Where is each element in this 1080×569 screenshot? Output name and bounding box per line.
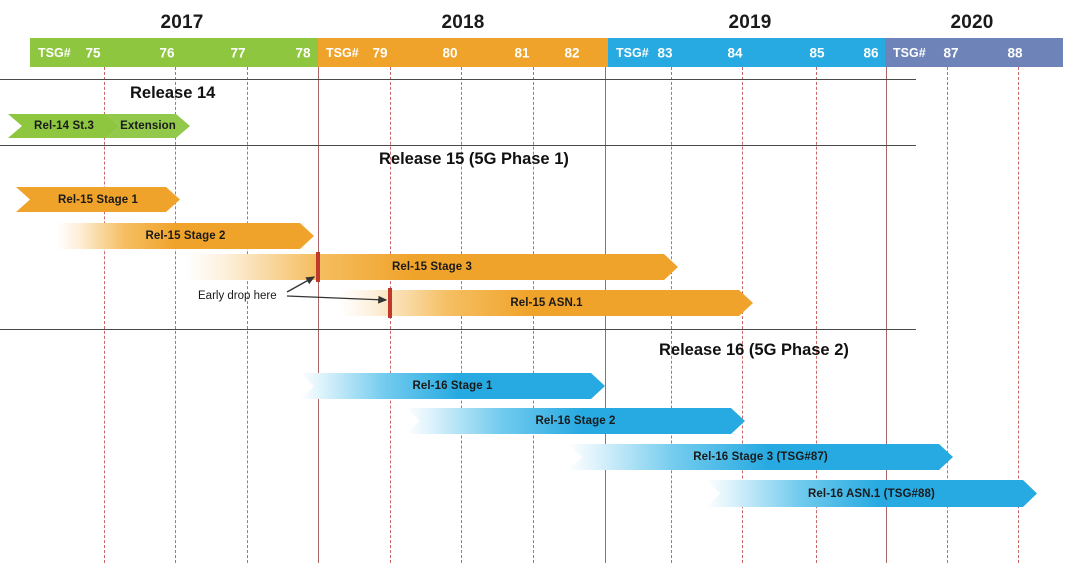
tsg-meeting-number: 83: [657, 45, 672, 60]
gridline: [247, 67, 248, 563]
gantt-bar-rel16-stage1: Rel-16 Stage 1: [300, 373, 605, 399]
early-drop-tick: [388, 288, 392, 318]
tsg-meeting-number: 79: [372, 45, 387, 60]
bar-label: Rel-15 Stage 2: [145, 230, 225, 242]
tsg-year-segment: TSG#8788: [885, 38, 1063, 67]
bar-label: Extension: [120, 120, 176, 132]
gantt-bar-rel14-st3: Rel-14 St.3: [8, 114, 120, 138]
tsg-year-segment: TSG#79808182: [318, 38, 608, 67]
gantt-bar-rel15-stage3: Rel-15 Stage 3: [186, 254, 678, 280]
gridline: [104, 67, 105, 563]
tsg-meeting-number: 80: [442, 45, 457, 60]
bar-label: Rel-16 ASN.1 (TSG#88): [808, 488, 935, 500]
bar-label: Rel-15 Stage 3: [392, 261, 472, 273]
gantt-bar-rel15-stage2: Rel-15 Stage 2: [57, 223, 314, 249]
bar-label: Rel-15 Stage 1: [58, 194, 138, 206]
tsg-meeting-number: 86: [863, 45, 878, 60]
tsg-year-segment: TSG#75767778: [30, 38, 318, 67]
bar-label: Rel-16 Stage 2: [535, 415, 615, 427]
year-label: 2020: [912, 12, 1032, 34]
year-label: 2019: [690, 12, 810, 34]
tsg-meeting-number: 84: [727, 45, 742, 60]
year-label: 2017: [122, 12, 242, 34]
early-drop-tick: [316, 252, 320, 282]
tsg-meeting-number: 75: [85, 45, 100, 60]
tsg-meeting-number: 76: [159, 45, 174, 60]
section-title-release-15: Release 15 (5G Phase 1): [379, 150, 569, 169]
section-separator: [0, 145, 916, 146]
early-drop-annotation: Early drop here: [198, 290, 277, 302]
tsg-meeting-number: 82: [564, 45, 579, 60]
tsg-hash-label: TSG#: [38, 46, 71, 60]
year-label: 2018: [403, 12, 523, 34]
tsg-meeting-number: 78: [295, 45, 310, 60]
tsg-meeting-number: 81: [514, 45, 529, 60]
bar-label: Rel-14 St.3: [34, 120, 94, 132]
bar-label: Rel-16 Stage 1: [412, 380, 492, 392]
tsg-hash-label: TSG#: [616, 46, 649, 60]
tsg-meeting-number: 85: [809, 45, 824, 60]
tsg-meeting-number: 88: [1007, 45, 1022, 60]
gantt-bar-rel14-extension: Extension: [106, 114, 190, 138]
section-separator: [0, 329, 916, 330]
tsg-hash-label: TSG#: [326, 46, 359, 60]
bar-label: Rel-15 ASN.1: [510, 297, 582, 309]
gantt-bar-rel15-stage1: Rel-15 Stage 1: [16, 187, 180, 212]
gridline: [175, 67, 176, 563]
section-title-release-16: Release 16 (5G Phase 2): [659, 341, 849, 360]
section-title-release-14: Release 14: [130, 84, 215, 103]
gantt-bar-rel16-stage2: Rel-16 Stage 2: [406, 408, 745, 434]
gantt-bar-rel16-asn1: Rel-16 ASN.1 (TSG#88): [706, 480, 1037, 507]
tsg-year-segment: TSG#83848586: [608, 38, 885, 67]
gantt-bar-rel15-asn1: Rel-15 ASN.1: [340, 290, 753, 316]
tsg-meeting-number: 87: [943, 45, 958, 60]
section-separator: [0, 79, 916, 80]
bar-label: Rel-16 Stage 3 (TSG#87): [693, 451, 828, 463]
timeline-canvas: 2017201820192020 TSG#75767778TSG#7980818…: [0, 0, 1080, 569]
gantt-bar-rel16-stage3: Rel-16 Stage 3 (TSG#87): [568, 444, 953, 470]
gridline: [318, 67, 319, 563]
tsg-hash-label: TSG#: [893, 46, 926, 60]
tsg-meeting-number: 77: [230, 45, 245, 60]
